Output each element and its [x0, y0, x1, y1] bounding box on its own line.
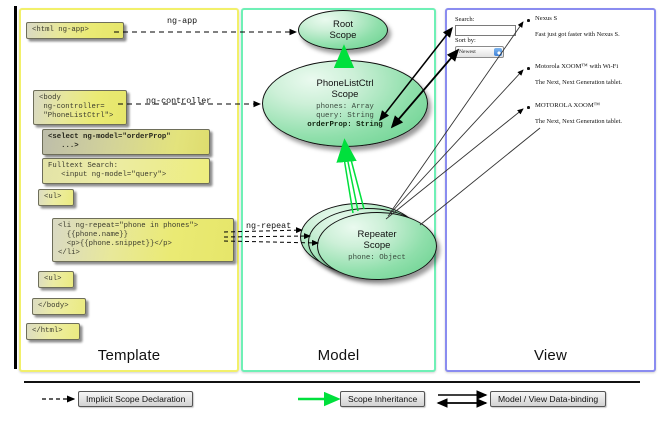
view-sort-select[interactable]: Newest [455, 46, 504, 58]
phone-snippet: The Next, Next Generation tablet. [535, 79, 622, 86]
view-search-input[interactable] [455, 25, 516, 36]
legend-label-scope-inheritance: Scope Inheritance [340, 391, 425, 407]
edge-label-ng-repeat: ng-repeat [246, 221, 291, 231]
code-fulltext-search: Fulltext Search: <input ng-model="query"… [42, 158, 210, 184]
scope-phonelistctrl: PhoneListCtrlScope phones: Arrayquery: S… [262, 60, 428, 147]
scope-phonelistctrl-title: PhoneListCtrlScope [316, 78, 373, 100]
scope-repeater-title: RepeaterScope [357, 229, 396, 251]
code-body-tag: <body ng-controller= "PhoneListCtrl"> [33, 90, 127, 125]
scope-phonelistctrl-props: phones: Arrayquery: StringorderProp: Str… [307, 103, 382, 130]
phone-snippet: The Next, Next Generation tablet. [535, 118, 622, 125]
phone-bullet-icon [527, 106, 530, 109]
edge-label-ng-app: ng-app [167, 16, 197, 26]
panel-model-label: Model [243, 347, 434, 364]
scope-repeater-props: phone: Object [348, 254, 406, 263]
scope-root: RootScope [298, 10, 388, 50]
phone-name: Motorola XOOM™ with Wi-Fi [535, 63, 618, 70]
view-sort-selected-value: Newest [459, 49, 476, 55]
panel-view-label: View [447, 347, 654, 364]
code-html-close: </html> [26, 323, 80, 340]
diagram-canvas: Template <html ng-app> <body ng-controll… [0, 0, 661, 425]
view-sort-label: Sort by: [455, 37, 476, 44]
legend-label-model-view-data-binding: Model / View Data-binding [490, 391, 606, 407]
phone-bullet-icon [527, 67, 530, 70]
phone-name: MOTOROLA XOOM™ [535, 102, 600, 109]
code-ul-open: <ul> [38, 189, 74, 206]
left-rail [14, 6, 17, 369]
code-ul-close: <ul> [38, 271, 74, 288]
code-html-tag: <html ng-app> [26, 22, 124, 39]
edge-label-ng-controller: ng-controller [146, 96, 211, 106]
view-search-label: Search: [455, 16, 475, 23]
phone-bullet-icon [527, 19, 530, 22]
code-body-close: </body> [32, 298, 86, 315]
scope-repeater: RepeaterScope phone: Object [317, 212, 437, 280]
code-select-tag: <select ng-model="orderProp" ...> [42, 129, 210, 155]
panel-template-label: Template [21, 347, 237, 364]
legend-divider [24, 381, 640, 383]
code-li-repeat: <li ng-repeat="phone in phones"> {{phone… [52, 218, 234, 262]
phone-name: Nexus S [535, 15, 557, 22]
phone-snippet: Fast just got faster with Nexus S. [535, 31, 620, 38]
legend-label-implicit-scope-declaration: Implicit Scope Declaration [78, 391, 193, 407]
scope-root-title: RootScope [330, 19, 357, 41]
chevron-updown-icon [494, 48, 502, 56]
